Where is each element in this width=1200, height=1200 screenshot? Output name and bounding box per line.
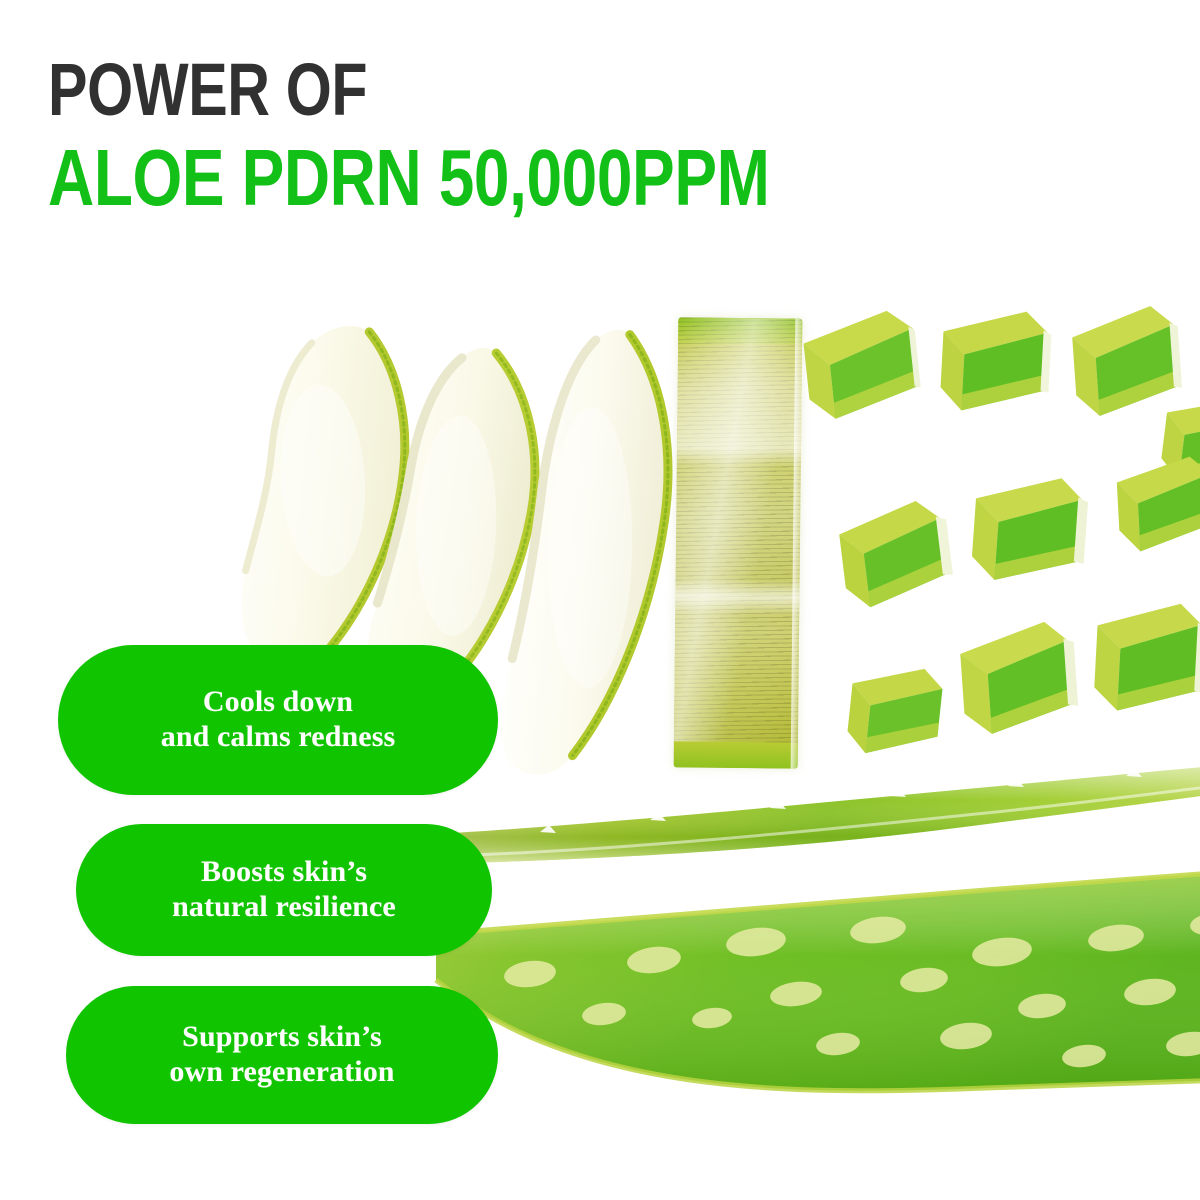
aloe-cube-10 bbox=[1087, 591, 1200, 721]
headline-block: POWER OF ALOE PDRN 50,000PPM bbox=[48, 54, 1048, 217]
aloe-cube-01 bbox=[794, 302, 923, 426]
aloe-cube-06 bbox=[964, 466, 1090, 592]
aloe-cube-07 bbox=[1111, 451, 1200, 556]
benefit-pill-label: Supports skin’s own regeneration bbox=[169, 1020, 394, 1090]
aloe-fillet-slice-3 bbox=[490, 326, 698, 784]
aloe-product-banner: POWER OF ALOE PDRN 50,000PPM Cools down … bbox=[0, 0, 1200, 1200]
aloe-cube-08 bbox=[841, 655, 949, 765]
slice-stack-gloss bbox=[674, 317, 803, 768]
aloe-thin-leaf bbox=[436, 760, 1200, 880]
aloe-cube-02 bbox=[935, 303, 1053, 419]
benefit-pill-cools-down[interactable]: Cools down and calms redness bbox=[58, 645, 498, 795]
benefit-pill-label: Cools down and calms redness bbox=[161, 685, 396, 755]
aloe-slice-stack bbox=[674, 317, 803, 768]
headline-line-1: POWER OF bbox=[48, 54, 848, 127]
aloe-cube-09 bbox=[952, 612, 1080, 742]
benefit-pill-boosts-resilience[interactable]: Boosts skin’s natural resilience bbox=[76, 824, 492, 956]
headline-line-2: ALOE PDRN 50,000PPM bbox=[48, 139, 848, 217]
benefit-pill-label: Boosts skin’s natural resilience bbox=[172, 855, 396, 925]
benefit-pill-supports-regeneration[interactable]: Supports skin’s own regeneration bbox=[66, 986, 498, 1124]
aloe-cube-05 bbox=[832, 494, 956, 615]
aloe-main-leaf bbox=[426, 868, 1200, 1168]
